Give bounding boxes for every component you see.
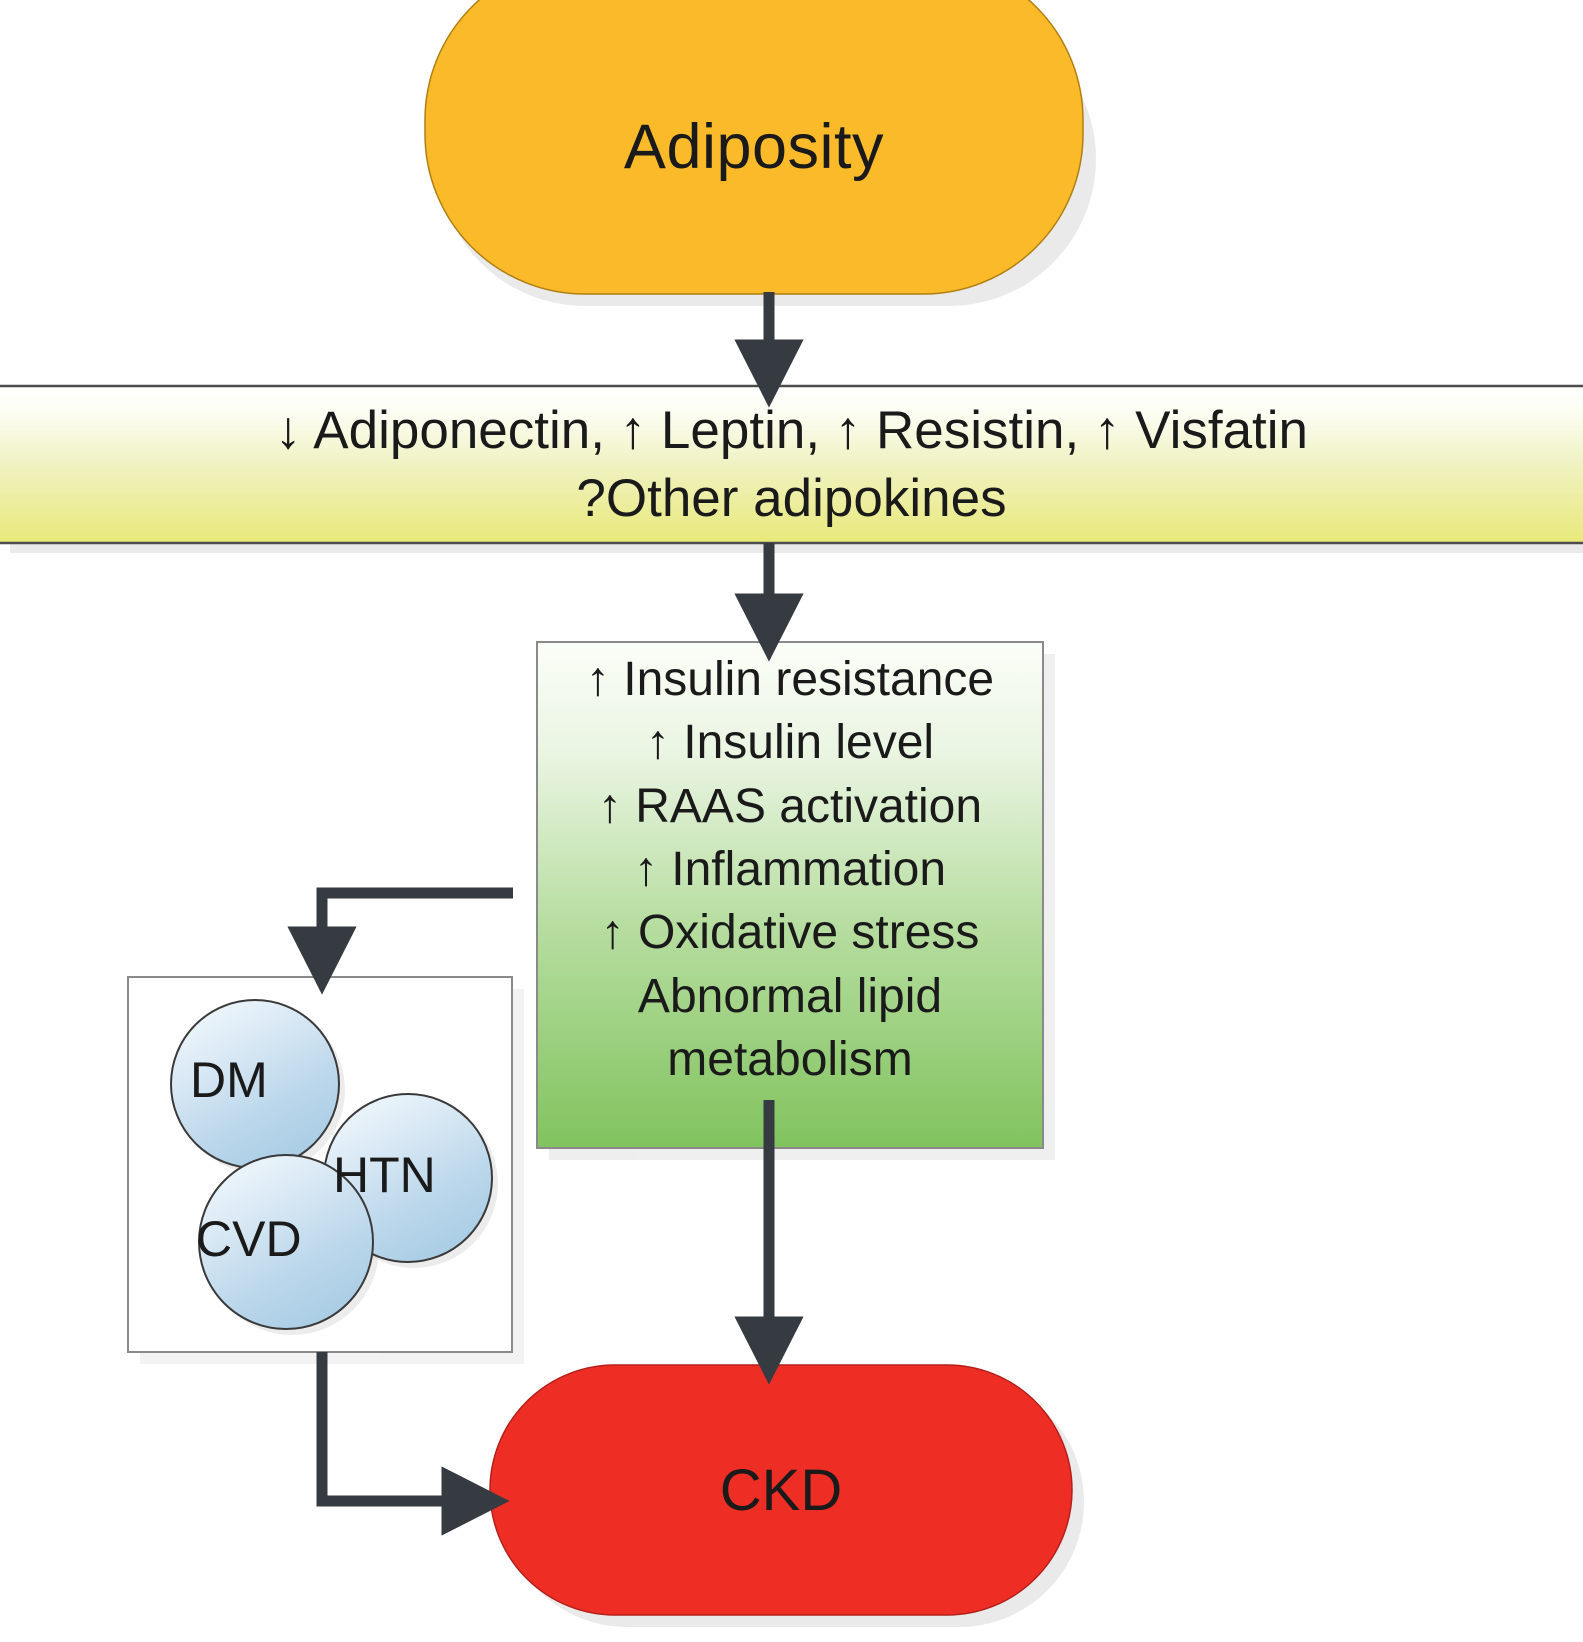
flowchart-canvas: Adiposity ↓ Adiponectin, ↑ Leptin, ↑ Res… xyxy=(0,0,1583,1642)
circle-cvd xyxy=(199,1155,373,1329)
edge-comorbidities-to-ckd xyxy=(322,1352,470,1501)
edge-mechanisms-to-comorbidities xyxy=(322,893,513,955)
flowchart-svg xyxy=(0,0,1583,1642)
node-mechanisms-box xyxy=(537,642,1043,1148)
circle-dm xyxy=(171,1000,339,1168)
node-adipokines-band xyxy=(0,386,1583,543)
node-adiposity xyxy=(425,0,1083,294)
node-ckd xyxy=(490,1365,1072,1615)
